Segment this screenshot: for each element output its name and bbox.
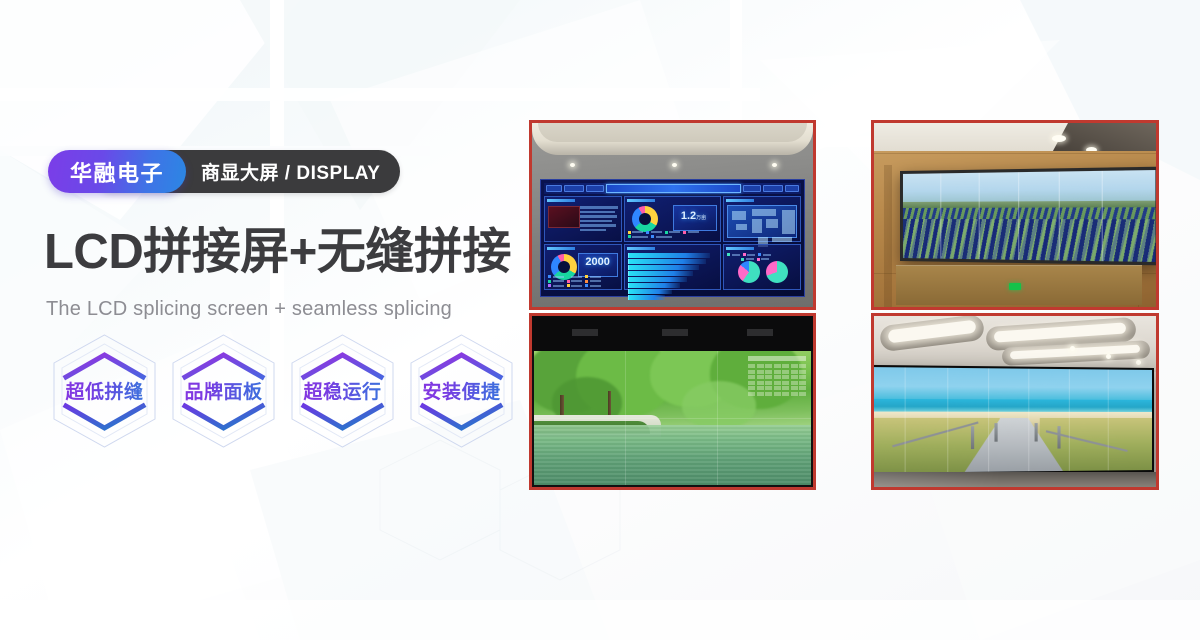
dashboard-stat-secondary: 2000 — [585, 256, 609, 268]
dashboard-stat-primary: 1.2万亩 — [681, 210, 706, 222]
left-content-column: 华融电子 商显大屏 / DISPLAY LCD拼接屏+无缝拼接 The LCD … — [0, 0, 530, 640]
promo-banner: 华融电子 商显大屏 / DISPLAY LCD拼接屏+无缝拼接 The LCD … — [0, 0, 1200, 640]
photo-solar-farm-videowall — [871, 120, 1159, 310]
photo-control-room-dashboard: 1.2万亩 — [529, 120, 816, 310]
feature-label: 品牌面板 — [167, 377, 280, 404]
brand-badge: 华融电子 — [48, 150, 186, 193]
feature-badge-2: 品牌面板 — [167, 332, 280, 450]
feature-badge-3: 超稳运行 — [286, 332, 399, 450]
video-wall-screen — [874, 365, 1154, 475]
feature-badge-row: 超低拼缝 品牌面板 超稳运行 — [48, 332, 518, 450]
feature-label: 安装便捷 — [405, 377, 518, 404]
feature-label: 超低拼缝 — [48, 377, 161, 404]
calendar-overlay — [748, 356, 806, 396]
video-wall-screen — [534, 351, 811, 485]
feature-label: 超稳运行 — [286, 377, 399, 404]
category-badge-label: 商显大屏 / DISPLAY — [201, 158, 380, 185]
feature-badge-1: 超低拼缝 — [48, 332, 161, 450]
subheadline: The LCD splicing screen + seamless splic… — [46, 298, 452, 321]
video-wall-screen — [900, 167, 1156, 266]
photo-willow-lake-videowall — [529, 313, 816, 490]
photo-beach-boardwalk-videowall — [871, 313, 1159, 490]
brand-badge-label: 华融电子 — [70, 156, 164, 188]
feature-badge-4: 安装便捷 — [405, 332, 518, 450]
exit-sign-icon — [1009, 283, 1021, 290]
headline: LCD拼接屏+无缝拼接 — [44, 228, 511, 277]
dashboard-screen: 1.2万亩 — [540, 179, 805, 297]
brand-badge-row: 华融电子 商显大屏 / DISPLAY — [48, 150, 400, 193]
